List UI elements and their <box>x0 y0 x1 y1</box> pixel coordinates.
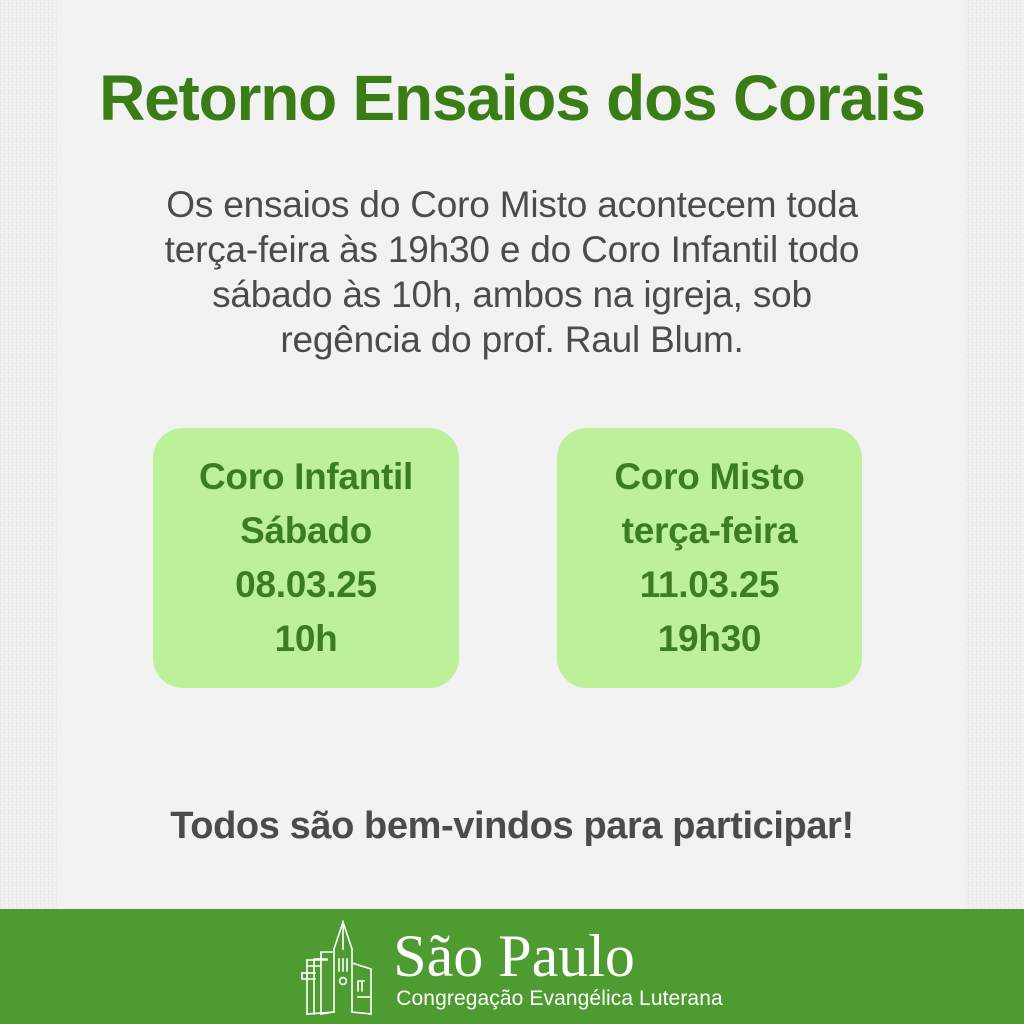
body-paragraph: Os ensaios do Coro Misto acontecem toda … <box>62 182 962 363</box>
poster-root: Retorno Ensaios dos Corais Os ensaios do… <box>0 0 1024 1024</box>
body-line-3: sábado às 10h, ambos na igreja, sob <box>62 272 962 317</box>
body-line-4: regência do prof. Raul Blum. <box>62 317 962 362</box>
schedule-card-coro-misto: Coro Misto terça-feira 11.03.25 19h30 <box>557 428 862 688</box>
schedule-card-coro-infantil: Coro Infantil Sábado 08.03.25 10h <box>153 428 459 688</box>
card-weekday: terça-feira <box>565 512 854 549</box>
footer-wordmark: São Paulo Congregação Evangélica Luteran… <box>393 927 723 1011</box>
card-choir-name: Coro Misto <box>565 458 854 495</box>
card-weekday: Sábado <box>161 512 451 549</box>
footer-bar: São Paulo Congregação Evangélica Luteran… <box>0 909 1024 1024</box>
schedule-cards: Coro Infantil Sábado 08.03.25 10h Coro M… <box>0 428 1024 690</box>
page-title: Retorno Ensaios dos Corais <box>0 64 1024 133</box>
body-line-2: terça-feira às 19h30 e do Coro Infantil … <box>62 227 962 272</box>
card-time: 10h <box>161 620 451 657</box>
card-choir-name: Coro Infantil <box>161 458 451 495</box>
footer-brand-subtitle: Congregação Evangélica Luterana <box>396 987 723 1010</box>
poster-content: Retorno Ensaios dos Corais Os ensaios do… <box>0 0 1024 1024</box>
card-time: 19h30 <box>565 620 854 657</box>
card-date: 08.03.25 <box>161 566 451 603</box>
card-date: 11.03.25 <box>565 566 854 603</box>
footer-logo-lockup: São Paulo Congregação Evangélica Luteran… <box>301 919 723 1019</box>
tagline: Todos são bem-vindos para participar! <box>0 805 1024 848</box>
footer-brand-name: São Paulo <box>393 927 635 986</box>
body-line-1: Os ensaios do Coro Misto acontecem toda <box>62 182 962 227</box>
church-lineart-icon <box>301 919 379 1019</box>
